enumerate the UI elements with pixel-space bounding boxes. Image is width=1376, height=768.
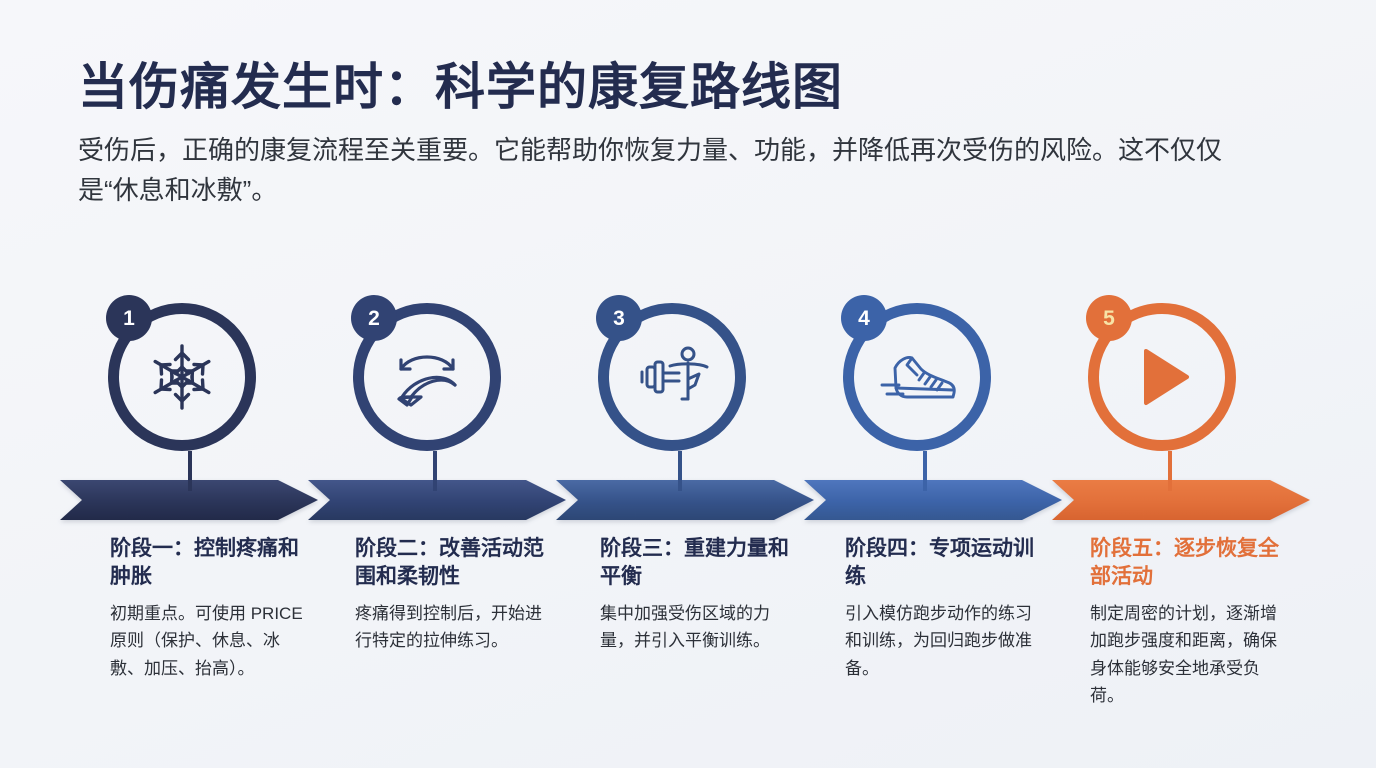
stage-4-stem: [923, 451, 927, 491]
stage-3-description: 集中加强受伤区域的力量，并引入平衡训练。: [600, 600, 800, 654]
stage-2[interactable]: 2 阶段二：改善活动范围和柔韧性 疼痛得到控制后，开始进行特定的拉伸: [345, 295, 590, 455]
stage-3-number: 3: [613, 308, 625, 329]
arrow-segment-5: [1052, 480, 1310, 520]
stage-1-number-badge: 1: [106, 295, 152, 341]
stage-4[interactable]: 4 阶: [835, 295, 1080, 455]
stage-4-description: 引入模仿跑步动作的练习和训练，为回归跑步做准备。: [845, 600, 1045, 682]
play-triangle-icon: [1122, 337, 1202, 417]
stage-3-stem: [678, 451, 682, 491]
stage-5[interactable]: 5 阶段五：逐步恢复全部活动 制定周密的计划，逐渐增加跑步强度和距离，确保身体能…: [1080, 295, 1325, 455]
arrow-segment-4: [804, 480, 1062, 520]
stage-4-marker: 4: [843, 295, 1003, 455]
stage-5-marker: 5: [1088, 295, 1248, 455]
snowflake-icon: [142, 337, 222, 417]
stage-1-stem: [188, 451, 192, 491]
running-shoe-icon: [877, 337, 957, 417]
page-subtitle: 受伤后，正确的康复流程至关重要。它能帮助你恢复力量、功能，并降低再次受伤的风险。…: [78, 131, 1278, 210]
stage-1-heading: 阶段一：控制疼痛和肿胀: [110, 535, 310, 591]
dumbbell-balance-icon: [632, 337, 712, 417]
stage-3[interactable]: 3: [590, 295, 835, 455]
stage-1-marker: 1: [108, 295, 268, 455]
stage-2-number-badge: 2: [351, 295, 397, 341]
stage-timeline: 1: [0, 295, 1376, 755]
stage-2-description: 疼痛得到控制后，开始进行特定的拉伸练习。: [355, 600, 555, 654]
stage-4-heading: 阶段四：专项运动训练: [845, 535, 1045, 591]
infographic-canvas: 当伤痛发生时：科学的康复路线图 受伤后，正确的康复流程至关重要。它能帮助你恢复力…: [0, 0, 1376, 768]
stage-5-stem: [1168, 451, 1172, 491]
stage-2-number: 2: [368, 308, 380, 329]
stage-1-text: 阶段一：控制疼痛和肿胀 初期重点。可使用 PRICE原则（保护、休息、冰敷、加压…: [110, 535, 310, 682]
stage-3-text: 阶段三：重建力量和平衡 集中加强受伤区域的力量，并引入平衡训练。: [600, 535, 800, 655]
stage-4-text: 阶段四：专项运动训练 引入模仿跑步动作的练习和训练，为回归跑步做准备。: [845, 535, 1045, 682]
header: 当伤痛发生时：科学的康复路线图 受伤后，正确的康复流程至关重要。它能帮助你恢复力…: [78, 58, 1318, 210]
stage-2-marker: 2: [353, 295, 513, 455]
arrow-segment-2: [308, 480, 566, 520]
stage-5-text: 阶段五：逐步恢复全部活动 制定周密的计划，逐渐增加跑步强度和距离，确保身体能够安…: [1090, 535, 1290, 709]
stage-2-text: 阶段二：改善活动范围和柔韧性 疼痛得到控制后，开始进行特定的拉伸练习。: [355, 535, 555, 655]
stage-3-marker: 3: [598, 295, 758, 455]
stage-2-heading: 阶段二：改善活动范围和柔韧性: [355, 535, 555, 591]
stage-1-number: 1: [123, 308, 135, 329]
stage-3-number-badge: 3: [596, 295, 642, 341]
range-of-motion-arrows-icon: [387, 337, 467, 417]
stage-3-heading: 阶段三：重建力量和平衡: [600, 535, 800, 591]
arrow-segment-3: [556, 480, 814, 520]
stage-5-description: 制定周密的计划，逐渐增加跑步强度和距离，确保身体能够安全地承受负荷。: [1090, 600, 1290, 709]
stage-4-number-badge: 4: [841, 295, 887, 341]
stage-5-heading: 阶段五：逐步恢复全部活动: [1090, 535, 1290, 591]
stage-1[interactable]: 1: [100, 295, 345, 455]
stage-4-number: 4: [858, 308, 870, 329]
stage-5-number-badge: 5: [1086, 295, 1132, 341]
page-title: 当伤痛发生时：科学的康复路线图: [78, 58, 1318, 117]
stage-2-stem: [433, 451, 437, 491]
stage-1-description: 初期重点。可使用 PRICE原则（保护、休息、冰敷、加压、抬高）。: [110, 600, 310, 682]
stage-5-number: 5: [1103, 308, 1115, 329]
